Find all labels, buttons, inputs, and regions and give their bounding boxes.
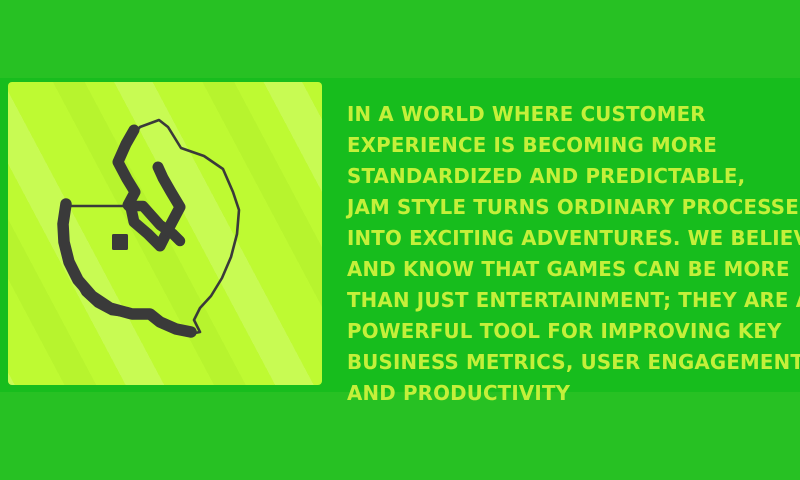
illustration-panel xyxy=(8,82,322,385)
copy-line: POWERFUL TOOL FOR IMPROVING KEY xyxy=(347,316,772,347)
copy-line: THAN JUST ENTERTAINMENT; THEY ARE A xyxy=(347,285,772,316)
slide-root: IN A WORLD WHERE CUSTOMER EXPERIENCE IS … xyxy=(0,0,800,480)
body-copy: IN A WORLD WHERE CUSTOMER EXPERIENCE IS … xyxy=(347,99,787,409)
copy-line: AND PRODUCTIVITY xyxy=(347,378,772,409)
thumbs-up-hand-icon xyxy=(8,82,322,385)
copy-line: IN A WORLD WHERE CUSTOMER xyxy=(347,99,772,130)
copy-line: INTO EXCITING ADVENTURES. WE BELIEVE xyxy=(347,223,772,254)
copy-line: STANDARDIZED AND PREDICTABLE, xyxy=(347,161,772,192)
copy-line: AND KNOW THAT GAMES CAN BE MORE xyxy=(347,254,772,285)
copy-line: JAM STYLE TURNS ORDINARY PROCESSES xyxy=(347,192,772,223)
knuckle-dot xyxy=(112,234,128,250)
copy-line: BUSINESS METRICS, USER ENGAGEMENT, xyxy=(347,347,772,378)
copy-line: EXPERIENCE IS BECOMING MORE xyxy=(347,130,772,161)
